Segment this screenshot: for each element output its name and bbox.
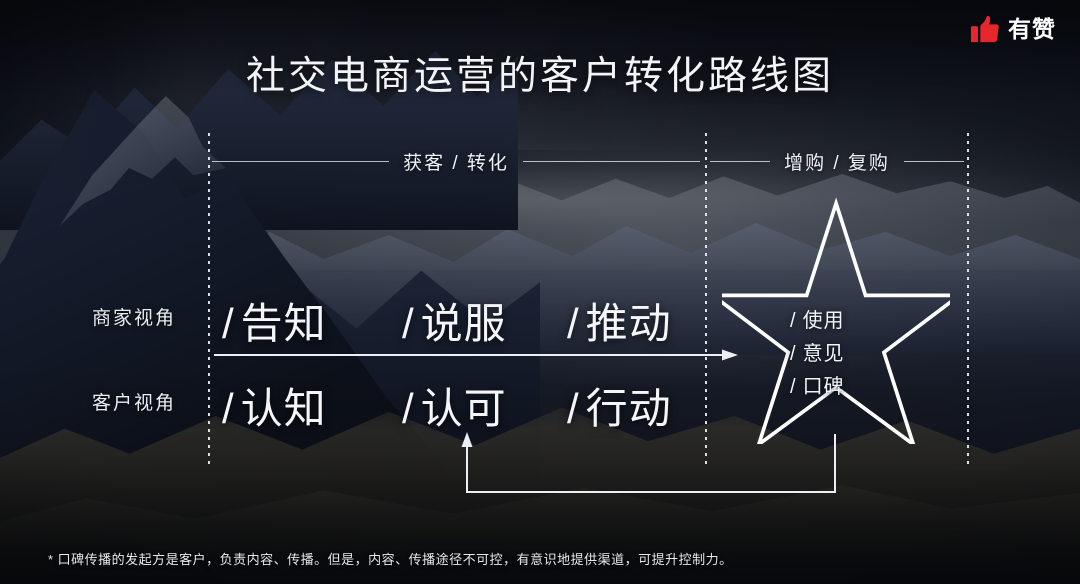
step-label: 认知 <box>241 385 327 432</box>
step-slash: / <box>222 385 235 432</box>
row-label-customer: 客户视角 <box>92 388 204 415</box>
step-customer-3: /行动 <box>567 375 672 436</box>
phase-rule-left <box>710 161 770 162</box>
phase-label-repeat: 增购 / 复购 <box>784 148 890 175</box>
phase-rule-left <box>212 161 389 162</box>
divider-dotted-left <box>208 133 210 465</box>
star-slash: / <box>790 310 797 332</box>
step-label: 告知 <box>241 300 327 347</box>
step-label: 认可 <box>421 385 507 432</box>
step-slash: / <box>402 300 415 347</box>
brand-logo: 有赞 <box>970 14 1056 44</box>
step-slash: / <box>567 385 580 432</box>
phase-header-acquire: 获客 / 转化 <box>212 146 700 176</box>
step-label: 行动 <box>586 385 672 432</box>
step-customer-1: /认知 <box>222 375 402 436</box>
star-label: 使用 <box>803 310 845 332</box>
phase-rule-right <box>904 161 964 162</box>
loyalty-star: /使用 /意见 /口碑 <box>722 196 950 444</box>
star-item-2: /意见 <box>790 337 890 366</box>
phase-header-band: 获客 / 转化 增购 / 复购 <box>0 146 1080 176</box>
step-slash: / <box>567 300 580 347</box>
step-customer-2: /认可 <box>402 375 567 436</box>
phase-header-repeat: 增购 / 复购 <box>710 146 964 176</box>
step-label: 说服 <box>421 300 507 347</box>
phase-label-acquire: 获客 / 转化 <box>403 148 509 175</box>
brand-name: 有赞 <box>1008 18 1056 41</box>
star-item-3: /口碑 <box>790 370 890 399</box>
star-slash: / <box>790 376 797 398</box>
feedback-loop-arrow <box>455 430 855 505</box>
step-merchant-1: /告知 <box>222 290 402 351</box>
step-row-merchant: /告知 /说服 /推动 <box>222 290 692 351</box>
step-merchant-2: /说服 <box>402 290 567 351</box>
star-item-list: /使用 /意见 /口碑 <box>790 304 890 399</box>
page-title: 社交电商运营的客户转化路线图 <box>0 45 1080 101</box>
star-label: 口碑 <box>803 376 845 398</box>
star-label: 意见 <box>803 343 845 365</box>
row-label-merchant: 商家视角 <box>92 303 204 330</box>
step-row-customer: /认知 /认可 /行动 <box>222 375 692 436</box>
divider-dotted-right <box>967 133 969 465</box>
step-label: 推动 <box>586 300 672 347</box>
slide-content: 有赞 社交电商运营的客户转化路线图 获客 / 转化 增购 / 复购 商家视角 客… <box>0 0 1080 584</box>
footnote: * 口碑传播的发起方是客户，负责内容、传播。但是，内容、传播途径不可控，有意识地… <box>48 549 1040 568</box>
divider-dotted-middle <box>705 133 707 465</box>
step-slash: / <box>402 385 415 432</box>
forward-flow-arrow <box>214 348 739 362</box>
phase-rule-right <box>523 161 700 162</box>
star-slash: / <box>790 343 797 365</box>
thumbs-up-icon <box>970 14 1000 44</box>
star-item-1: /使用 <box>790 304 890 333</box>
step-merchant-3: /推动 <box>567 290 672 351</box>
slide-canvas: 有赞 社交电商运营的客户转化路线图 获客 / 转化 增购 / 复购 商家视角 客… <box>0 0 1080 584</box>
step-slash: / <box>222 300 235 347</box>
